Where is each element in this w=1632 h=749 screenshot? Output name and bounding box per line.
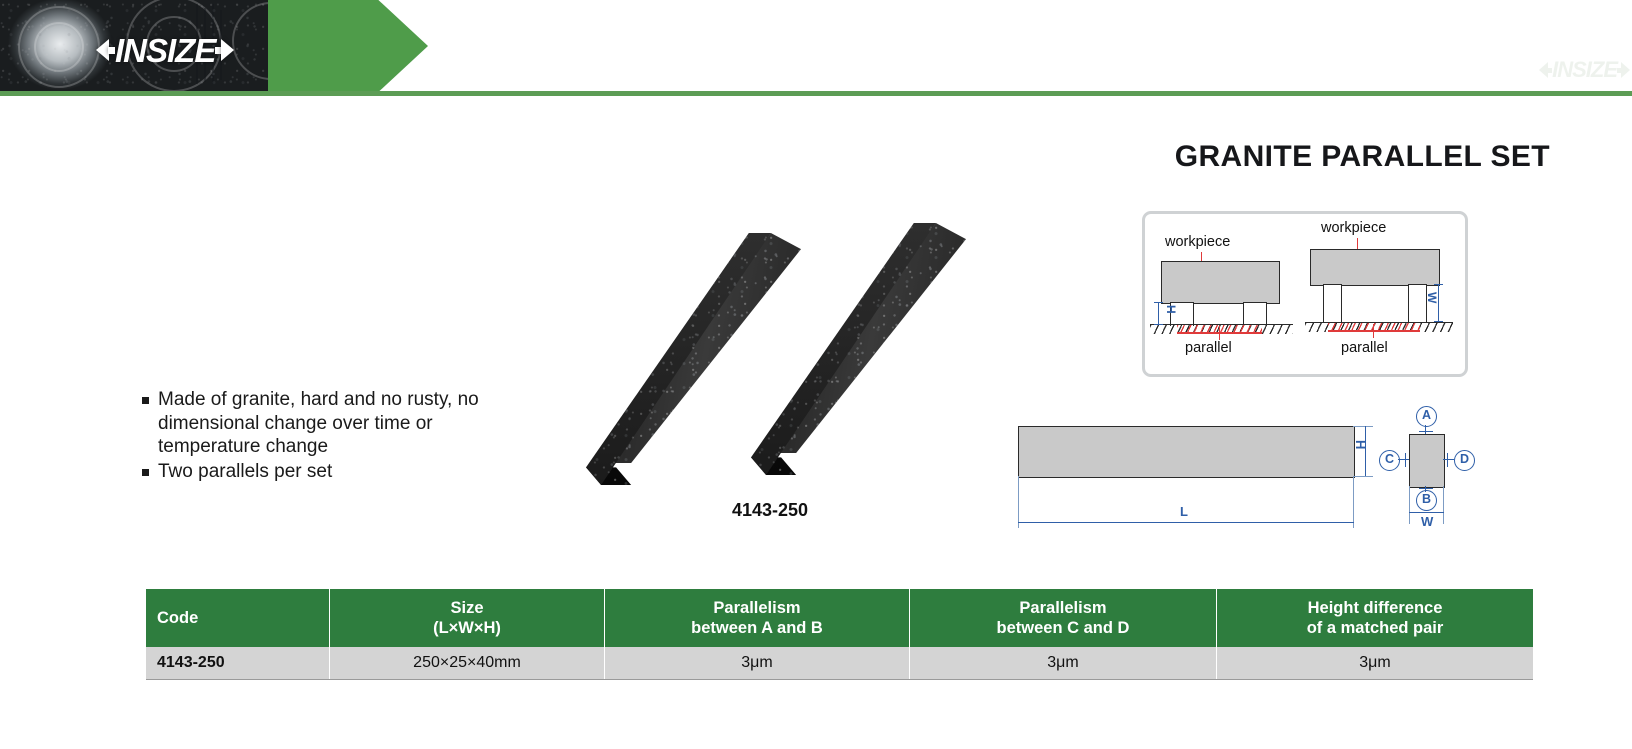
callout-d-tick <box>1447 453 1448 467</box>
green-chevron <box>268 0 428 92</box>
l-dimension-label: L <box>1180 504 1188 519</box>
feature-list: Made of granite, hard and no rusty, no d… <box>142 388 522 484</box>
callout-d: D <box>1454 450 1475 471</box>
cell-height-difference: 3μm <box>1217 647 1534 680</box>
bullet-square-icon <box>142 397 149 404</box>
workpiece-label: workpiece <box>1321 220 1386 236</box>
h-dimension-label: H <box>1353 440 1368 449</box>
product-datasheet-page: INSIZE INSIZE GRANITE PARALLEL SET Made … <box>0 0 1632 749</box>
h-dimension-tick-bottom <box>1154 324 1163 325</box>
w-dimension-tick-top <box>1434 284 1443 285</box>
parallel-leader-line <box>1219 326 1220 340</box>
header-line-1: Size <box>336 598 598 618</box>
granite-parallel-bar-right <box>735 215 985 465</box>
h-extension-top <box>1353 426 1373 427</box>
h-dimension-line <box>1158 302 1159 325</box>
column-header-parallelism-ab: Parallelism between A and B <box>605 589 910 647</box>
end-view-body <box>1409 434 1445 488</box>
h-dimension-label: H <box>1164 305 1178 314</box>
callout-c: C <box>1379 450 1400 471</box>
h-dimension-tick-top <box>1154 302 1163 303</box>
callout-a: A <box>1416 406 1437 427</box>
parallel-stub-right <box>1243 302 1267 326</box>
bullet-square-icon <box>142 469 149 476</box>
h-dimension-line <box>1365 426 1366 476</box>
w-extension-right <box>1443 486 1444 524</box>
logo-right-arrow-icon <box>221 39 234 61</box>
header-line-2: (L×W×H) <box>336 618 598 638</box>
technical-drawing: H L A B C D W <box>1010 400 1480 550</box>
product-code-caption: 4143-250 <box>560 500 980 521</box>
cell-code: 4143-250 <box>146 647 330 680</box>
workpiece-block <box>1161 261 1280 304</box>
header-line-1: Parallelism <box>611 598 903 618</box>
parallel-leader-line <box>1373 324 1374 338</box>
logo-left-bar-icon <box>108 47 115 54</box>
header-line-2: between C and D <box>916 618 1210 638</box>
w-dimension-tick-bottom <box>1434 321 1443 322</box>
w-dimension-line <box>1409 512 1444 513</box>
w-dimension-label: W <box>1421 514 1433 529</box>
side-view-body <box>1018 426 1355 478</box>
l-extension-left <box>1018 476 1019 528</box>
column-header-height-difference: Height difference of a matched pair <box>1217 589 1534 647</box>
parallel-stub-left <box>1323 284 1342 323</box>
cell-parallelism-cd: 3μm <box>910 647 1217 680</box>
cell-size: 250×25×40mm <box>330 647 605 680</box>
column-header-parallelism-cd: Parallelism between C and D <box>910 589 1217 647</box>
w-extension-left <box>1409 486 1410 524</box>
usage-diagram: workpiece parallel H workpiece <box>1142 211 1468 377</box>
callout-a-tick <box>1419 431 1433 432</box>
callout-a-leader <box>1425 425 1426 434</box>
h-extension-bottom <box>1353 476 1373 477</box>
header-line-1: Code <box>157 608 323 628</box>
insize-watermark: INSIZE <box>1539 58 1630 82</box>
page-title: GRANITE PARALLEL SET <box>1175 140 1550 174</box>
header-line-1: Height difference <box>1223 598 1527 618</box>
callout-c-leader <box>1398 459 1409 460</box>
callout-b: B <box>1416 490 1437 511</box>
table-row: 4143-250 250×25×40mm 3μm 3μm 3μm <box>146 647 1533 680</box>
column-header-size: Size (L×W×H) <box>330 589 605 647</box>
header-divider <box>0 91 1632 96</box>
header-line-1: Parallelism <box>916 598 1210 618</box>
header-banner: INSIZE INSIZE <box>0 0 1632 96</box>
product-image <box>560 215 980 505</box>
callout-d-leader <box>1443 459 1454 460</box>
parallel-label: parallel <box>1341 340 1388 356</box>
cell-parallelism-ab: 3μm <box>605 647 910 680</box>
usage-diagram-left: workpiece parallel H <box>1145 214 1305 374</box>
table-header-row: Code Size (L×W×H) Parallelism between A … <box>146 589 1533 647</box>
list-item: Two parallels per set <box>142 460 522 484</box>
specification-table: Code Size (L×W×H) Parallelism between A … <box>146 589 1533 680</box>
w-dimension-label: W <box>1425 292 1439 303</box>
callout-b-tick <box>1419 488 1433 489</box>
l-extension-right <box>1353 476 1354 528</box>
callout-c-tick <box>1405 453 1406 467</box>
column-header-code: Code <box>146 589 330 647</box>
header-line-2: of a matched pair <box>1223 618 1527 638</box>
parallel-stub-right <box>1408 284 1427 323</box>
parallel-label: parallel <box>1185 340 1232 356</box>
watermark-right-arrow-icon <box>1621 62 1630 78</box>
insize-logo: INSIZE <box>96 33 234 67</box>
list-item: Made of granite, hard and no rusty, no d… <box>142 388 522 459</box>
header-line-2: between A and B <box>611 618 903 638</box>
feature-text: Made of granite, hard and no rusty, no d… <box>158 388 522 459</box>
workpiece-label: workpiece <box>1165 234 1230 250</box>
watermark-wordmark: INSIZE <box>1552 59 1617 81</box>
l-dimension-line <box>1018 522 1354 523</box>
feature-text: Two parallels per set <box>158 460 332 484</box>
logo-wordmark: INSIZE <box>115 34 215 67</box>
workpiece-block <box>1310 249 1440 286</box>
usage-diagram-right: workpiece parallel W <box>1303 214 1465 374</box>
